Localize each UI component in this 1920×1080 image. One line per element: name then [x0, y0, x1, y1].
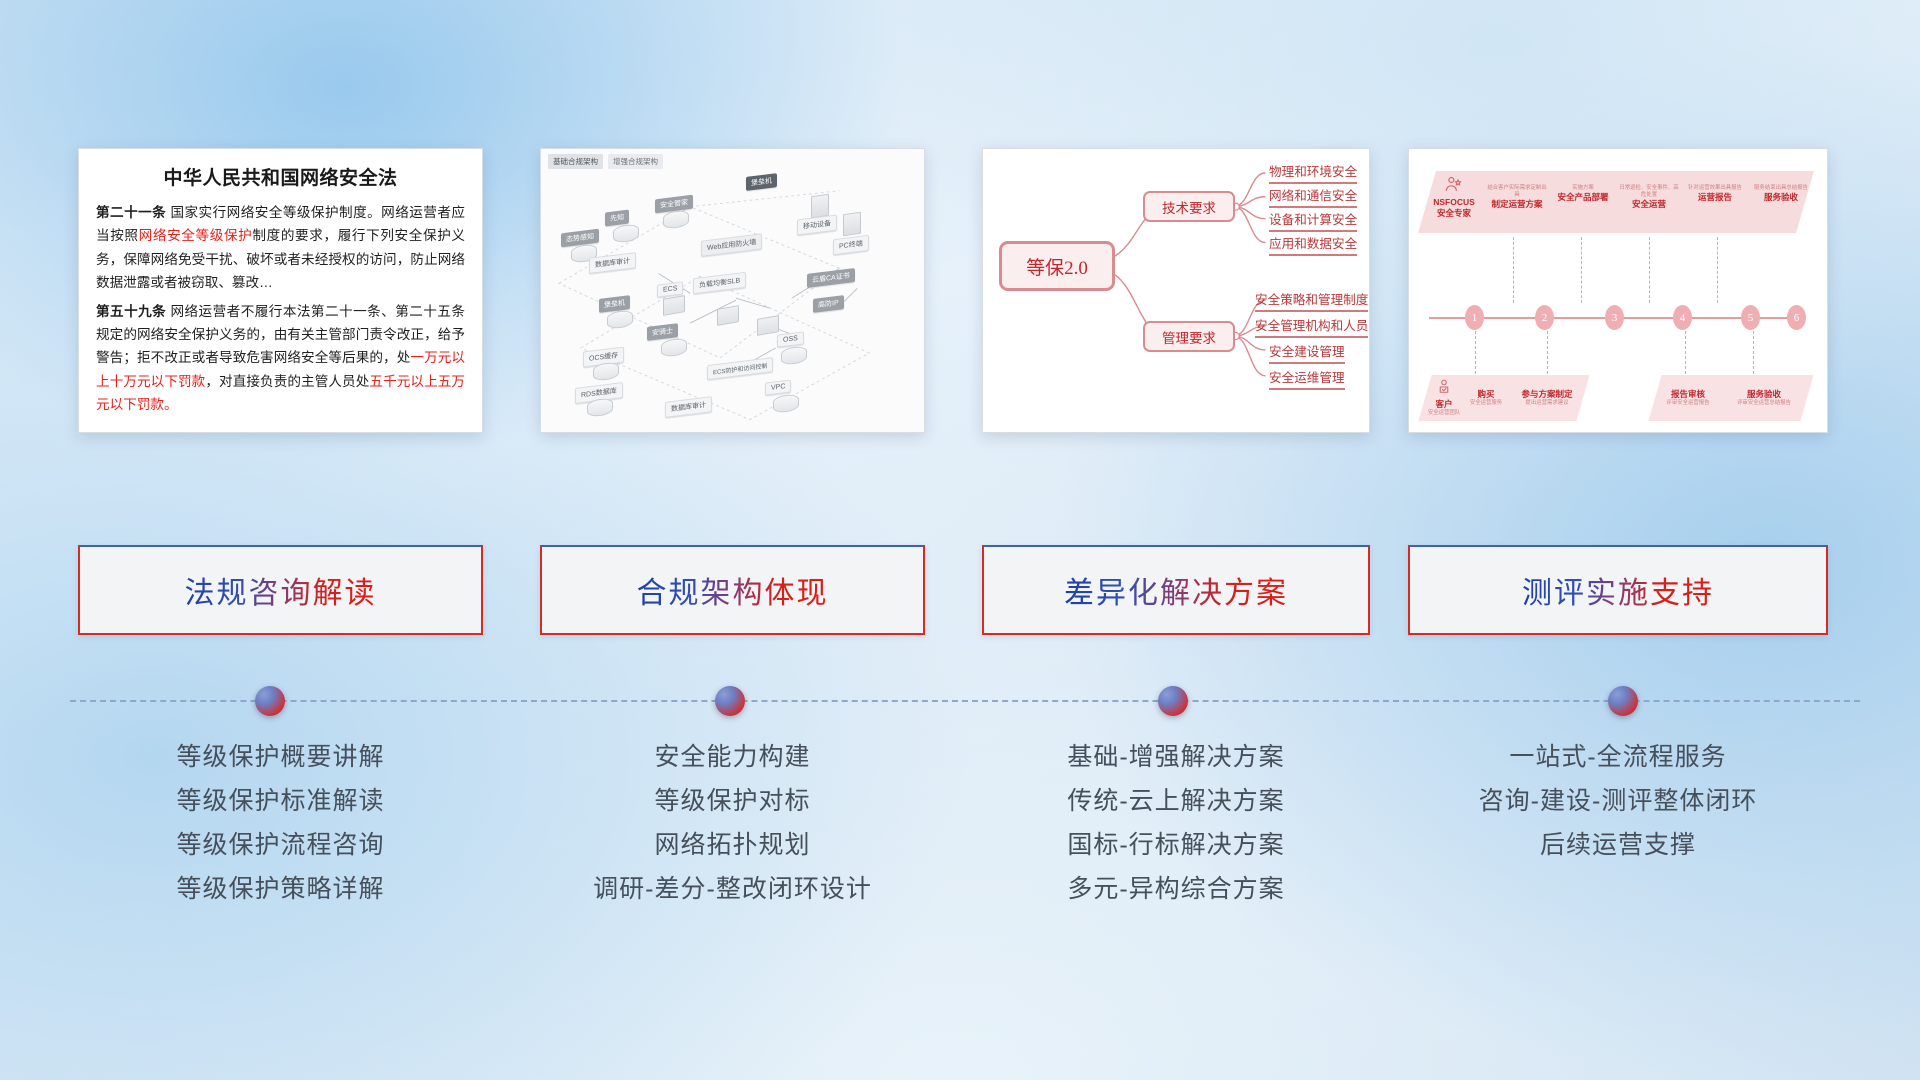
nsfocus-bottom-step-2-sub: 提出运营需求建议: [1513, 400, 1581, 407]
architecture-shape-server-1: [811, 194, 829, 219]
pillar-label-box-2[interactable]: 合规架构体现: [540, 545, 925, 635]
nsfocus-top-step-3-sub: 日常巡检、安全事件、高危处置: [1617, 185, 1681, 199]
timeline-rail: [70, 700, 1860, 702]
slide-canvas: 中华人民共和国网络安全法 第二十一条 国家实行网络安全等级保护制度。网络运营者应…: [0, 0, 1920, 1080]
nsfocus-bottom-step-4-sub: 评审安全运营总结报告: [1729, 400, 1799, 407]
law-article-59-text-b: ，对直接负责的主管人员处: [205, 374, 369, 389]
mindmap-root: 等保2.0: [999, 241, 1115, 291]
architecture-node-xianzhi: 先知: [605, 210, 629, 227]
nsfocus-bottom-step-2: 参与方案制定 提出运营需求建议: [1513, 389, 1581, 406]
law-article-21: 第二十一条 国家实行网络安全等级保护制度。网络运营者应当按照网络安全等级保护制度…: [96, 201, 465, 295]
nsfocus-connector-8: [1753, 331, 1754, 379]
pillar-list-3: 基础-增强解决方案 传统-云上解决方案 国标-行标解决方案 多元-异构综合方案: [982, 735, 1370, 911]
nsfocus-top-step-3-label: 安全运营: [1617, 199, 1681, 210]
nsfocus-connector-5: [1475, 331, 1476, 379]
nsfocus-expert-name: NSFOCUS: [1425, 197, 1483, 208]
nsfocus-connector-7: [1685, 331, 1686, 379]
nsfocus-top-step-1-label: 制定运营方案: [1485, 199, 1549, 210]
nsfocus-top-step-5-label: 服务验收: [1749, 192, 1813, 203]
pillar-label-3: 差异化解决方案: [1064, 568, 1288, 612]
mindmap: 等保2.0 技术要求 物理和环境安全 网络和通信安全 设备和计算安全 应用和数据…: [983, 149, 1369, 432]
nsfocus-top-step-2-label: 安全产品部署: [1551, 192, 1615, 203]
mindmap-leaf-construction-mgmt: 安全建设管理: [1269, 341, 1345, 364]
list-item: 调研-差分-整改闭环设计: [540, 867, 925, 911]
nsfocus-bottom-step-3: 报告审核 评审安全运营报告: [1657, 389, 1719, 406]
nsfocus-node-4: 4: [1673, 305, 1692, 330]
pillar-list-2: 安全能力构建 等级保护对标 网络拓扑规划 调研-差分-整改闭环设计: [540, 735, 925, 911]
list-item: 等级保护标准解读: [78, 779, 483, 823]
nsfocus-customer-name: 客户: [1421, 399, 1467, 410]
nsfocus-expert-sub: 安全专家: [1425, 208, 1483, 219]
pillar-label-4: 测评实施支持: [1522, 568, 1714, 612]
pillar-label-box-3[interactable]: 差异化解决方案: [982, 545, 1370, 635]
list-item: 后续运营支撑: [1408, 823, 1828, 867]
nsfocus-node-2: 2: [1535, 305, 1554, 330]
card-nsfocus-timeline[interactable]: NSFOCUS 安全专家 结合客户实际需求定制出具 制定运营方案 实施方案 安全…: [1408, 148, 1828, 433]
mindmap-leaf-ops-mgmt: 安全运维管理: [1269, 367, 1345, 390]
timeline-dot-3: [1158, 686, 1188, 716]
nsfocus-top-step-4-sub: 针对运营效果出具报告: [1683, 185, 1747, 192]
mindmap-leaf-physical-env: 物理和环境安全: [1269, 161, 1357, 184]
nsfocus-top-step-5-sub: 服务结束出具总结报告: [1749, 185, 1813, 192]
list-item: 等级保护对标: [540, 779, 925, 823]
nsfocus-top-step-1: 结合客户实际需求定制出具 制定运营方案: [1485, 185, 1549, 209]
mindmap-leaf-app-data: 应用和数据安全: [1269, 233, 1357, 256]
nsfocus-node-6: 6: [1787, 305, 1806, 330]
timeline-dot-2: [715, 686, 745, 716]
list-item: 国标-行标解决方案: [982, 823, 1370, 867]
nsfocus-bottom-step-4-label: 服务验收: [1729, 389, 1799, 400]
nsfocus-node-1: 1: [1465, 305, 1484, 330]
nsfocus-bottom-step-1-sub: 安全运营服务: [1463, 400, 1509, 407]
pillar-list-4: 一站式-全流程服务 咨询-建设-测评整体闭环 后续运营支撑: [1408, 735, 1828, 867]
pillar-label-box-4[interactable]: 测评实施支持: [1408, 545, 1828, 635]
nsfocus-top-step-4: 针对运营效果出具报告 运营报告: [1683, 185, 1747, 202]
nsfocus-timeline: NSFOCUS 安全专家 结合客户实际需求定制出具 制定运营方案 实施方案 安全…: [1409, 149, 1827, 432]
list-item: 基础-增强解决方案: [982, 735, 1370, 779]
pillar-list-1: 等级保护概要讲解 等级保护标准解读 等级保护流程咨询 等级保护策略详解: [78, 735, 483, 911]
timeline-dot-1: [255, 686, 285, 716]
list-item: 等级保护策略详解: [78, 867, 483, 911]
mindmap-branch-management: 管理要求: [1143, 321, 1235, 352]
nsfocus-connector-6: [1547, 331, 1548, 379]
list-item: 咨询-建设-测评整体闭环: [1408, 779, 1828, 823]
nsfocus-bottom-step-4: 服务验收 评审安全运营总结报告: [1729, 389, 1799, 406]
list-item: 网络拓扑规划: [540, 823, 925, 867]
law-article-21-label: 第二十一条: [96, 205, 166, 220]
nsfocus-bottom-step-3-sub: 评审安全运营报告: [1657, 400, 1719, 407]
nsfocus-expert-role: NSFOCUS 安全专家: [1425, 197, 1483, 218]
law-title: 中华人民共和国网络安全法: [96, 163, 465, 190]
card-cybersecurity-law[interactable]: 中华人民共和国网络安全法 第二十一条 国家实行网络安全等级保护制度。网络运营者应…: [78, 148, 483, 433]
nsfocus-bottom-step-2-label: 参与方案制定: [1513, 389, 1581, 400]
law-article-59-label: 第五十九条: [96, 304, 166, 319]
nsfocus-connector-2: [1581, 237, 1582, 303]
card-row: 中华人民共和国网络安全法 第二十一条 国家实行网络安全等级保护制度。网络运营者应…: [0, 148, 1920, 448]
nsfocus-connector-4: [1717, 237, 1718, 303]
nsfocus-top-step-1-sub: 结合客户实际需求定制出具: [1485, 185, 1549, 199]
card-mindmap-dengbao[interactable]: 等保2.0 技术要求 物理和环境安全 网络和通信安全 设备和计算安全 应用和数据…: [982, 148, 1370, 433]
nsfocus-customer-role: 客户 安全运营团队: [1421, 399, 1467, 416]
law-article-59: 第五十九条 网络运营者不履行本法第二十一条、第二十五条规定的网络安全保护义务的，…: [96, 300, 465, 417]
law-article-21-highlight: 网络安全等级保护: [139, 228, 253, 243]
mindmap-leaf-network-comm: 网络和通信安全: [1269, 185, 1357, 208]
nsfocus-top-step-2-sub: 实施方案: [1551, 185, 1615, 192]
card-compliance-architecture[interactable]: 基础合规架构 增强合规架构: [540, 148, 925, 433]
nsfocus-top-step-2: 实施方案 安全产品部署: [1551, 185, 1615, 202]
pillar-label-1: 法规咨询解读: [185, 568, 377, 612]
list-item: 一站式-全流程服务: [1408, 735, 1828, 779]
mindmap-branch-technical: 技术要求: [1143, 191, 1235, 222]
list-item: 传统-云上解决方案: [982, 779, 1370, 823]
mindmap-leaf-device-compute: 设备和计算安全: [1269, 209, 1357, 232]
architecture-shape-server-2: [843, 212, 861, 237]
law-document: 中华人民共和国网络安全法 第二十一条 国家实行网络安全等级保护制度。网络运营者应…: [79, 149, 482, 426]
architecture-diagram: 基础合规架构 增强合规架构: [541, 149, 924, 432]
nsfocus-connector-3: [1649, 237, 1650, 303]
nsfocus-node-3: 3: [1605, 305, 1624, 330]
nsfocus-node-5: 5: [1741, 305, 1760, 330]
nsfocus-bottom-step-1-label: 购买: [1463, 389, 1509, 400]
nsfocus-top-step-4-label: 运营报告: [1683, 192, 1747, 203]
list-item: 多元-异构综合方案: [982, 867, 1370, 911]
mindmap-leaf-policy-system: 安全策略和管理制度: [1255, 289, 1368, 312]
nsfocus-connector-1: [1513, 237, 1514, 303]
nsfocus-top-step-3: 日常巡检、安全事件、高危处置 安全运营: [1617, 185, 1681, 209]
list-item: 等级保护流程咨询: [78, 823, 483, 867]
nsfocus-bottom-step-1: 购买 安全运营服务: [1463, 389, 1509, 406]
timeline-dot-4: [1608, 686, 1638, 716]
pillar-label-box-1[interactable]: 法规咨询解读: [78, 545, 483, 635]
nsfocus-top-step-5: 服务结束出具总结报告 服务验收: [1749, 185, 1813, 202]
mindmap-leaf-org-personnel: 安全管理机构和人员: [1255, 315, 1368, 338]
pillar-label-row: 法规咨询解读 合规架构体现 差异化解决方案 测评实施支持: [0, 545, 1920, 637]
nsfocus-customer-sub: 安全运营团队: [1421, 410, 1467, 417]
pillar-label-2: 合规架构体现: [637, 568, 829, 612]
nsfocus-bottom-step-3-label: 报告审核: [1657, 389, 1719, 400]
list-item: 安全能力构建: [540, 735, 925, 779]
list-item: 等级保护概要讲解: [78, 735, 483, 779]
